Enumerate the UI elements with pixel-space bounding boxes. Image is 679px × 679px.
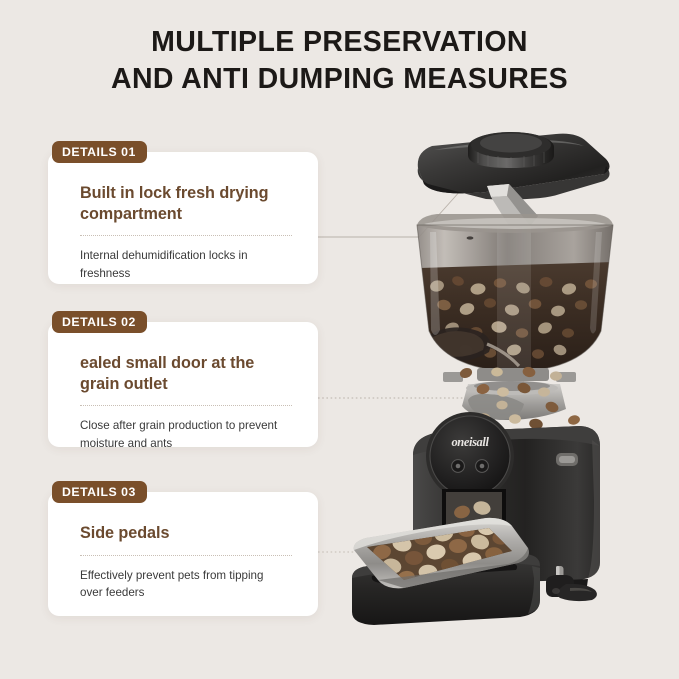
detail-badge-1: DETAILS 01 (52, 141, 147, 163)
detail-body-1: Internal dehumidification locks in fresh… (80, 247, 280, 282)
detail-divider-1 (80, 235, 292, 236)
detail-heading-2: ealed small door at the grain outlet (80, 353, 292, 394)
detail-body-2: Close after grain production to prevent … (80, 417, 280, 452)
detail-heading-1: Built in lock fresh drying compartment (80, 183, 292, 224)
detail-body-3: Effectively prevent pets from tipping ov… (80, 567, 280, 602)
detail-divider-3 (80, 555, 292, 556)
detail-card-1[interactable]: DETAILS 01 Built in lock fresh drying co… (48, 152, 318, 284)
product-image (330, 125, 630, 625)
detail-card-3[interactable]: DETAILS 03 Side pedals Effectively preve… (48, 492, 318, 616)
detail-badge-3: DETAILS 03 (52, 481, 147, 503)
detail-card-2[interactable]: DETAILS 02 ealed small door at the grain… (48, 322, 318, 447)
page-title: MULTIPLE PRESERVATION AND ANTI DUMPING M… (0, 24, 679, 98)
detail-divider-2 (80, 405, 292, 406)
title-line-1: MULTIPLE PRESERVATION (0, 24, 679, 61)
detail-heading-3: Side pedals (80, 523, 292, 544)
infographic-canvas: MULTIPLE PRESERVATION AND ANTI DUMPING M… (0, 0, 679, 679)
title-line-2: AND ANTI DUMPING MEASURES (0, 61, 679, 98)
detail-badge-2: DETAILS 02 (52, 311, 147, 333)
